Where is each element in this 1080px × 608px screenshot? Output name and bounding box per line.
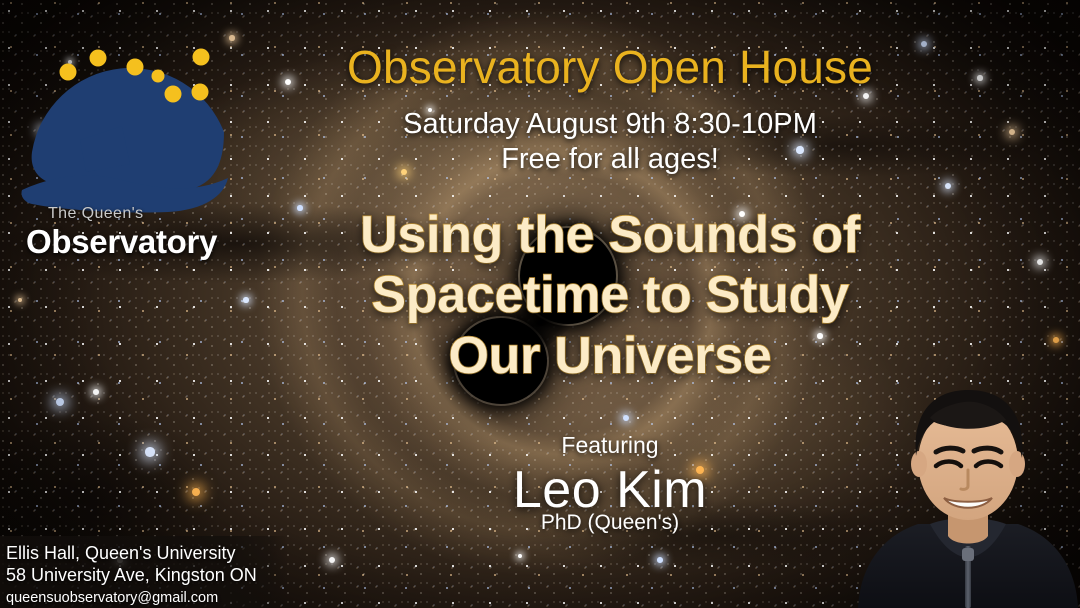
logo-main-text: Observatory [26, 225, 252, 258]
speaker-portrait [856, 370, 1080, 608]
talk-title-line-1: Using the Sounds of [260, 205, 960, 265]
logo-wordmark: The Queen's Observatory [26, 206, 252, 258]
event-title: Observatory Open House [260, 40, 960, 94]
featuring-label: Featuring [260, 432, 960, 459]
speaker-credentials: PhD (Queen's) [260, 511, 960, 535]
logo-star-7 [192, 84, 209, 101]
logo-pre-text: The Queen's [48, 206, 252, 222]
street-address: 58 University Ave, Kingston ON [6, 564, 288, 586]
queens-observatory-logo: The Queen's Observatory [18, 14, 250, 262]
event-poster: The Queen's Observatory Observatory Open… [0, 0, 1080, 608]
logo-star-5 [165, 86, 182, 103]
talk-title: Using the Sounds of Spacetime to Study O… [260, 205, 960, 386]
contact-email: queensuobservatory@gmail.com [6, 589, 288, 608]
event-date: Saturday August 9th 8:30-10PM [260, 108, 960, 141]
logo-star-4 [152, 70, 165, 83]
logo-star-1 [60, 64, 77, 81]
event-price: Free for all ages! [260, 143, 960, 176]
venue-name: Ellis Hall, Queen's University [6, 542, 288, 564]
logo-star-2 [90, 50, 107, 67]
logo-star-6 [193, 49, 210, 66]
ear-left [911, 451, 927, 477]
address-plate: Ellis Hall, Queen's University 58 Univer… [0, 536, 288, 608]
talk-title-line-2: Spacetime to Study [260, 265, 960, 325]
speaker-portrait-illustration [856, 370, 1080, 608]
observatory-dome-icon [18, 14, 250, 214]
talk-title-line-3: Our Universe [260, 326, 960, 386]
zipper-pull [962, 548, 974, 561]
ear-right [1009, 451, 1025, 477]
logo-star-3 [127, 59, 144, 76]
